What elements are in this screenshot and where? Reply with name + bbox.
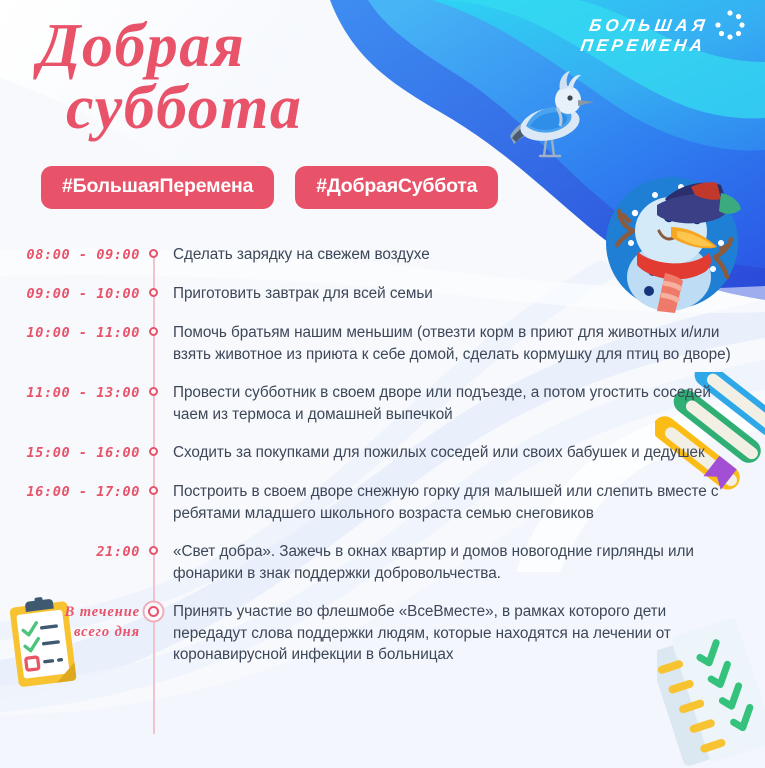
brand-dots-icon [713,8,747,42]
schedule-time: 15:00 - 16:00 [0,442,140,464]
timeline-bullet-wrap [140,541,166,555]
schedule-row[interactable]: 09:00 - 10:00 Приготовить завтрак для вс… [0,283,765,305]
timeline-dot-icon [149,486,158,495]
schedule-time: 09:00 - 10:00 [0,283,140,305]
schedule-task: Помочь братьям нашим меньшим (отвезти ко… [166,322,733,365]
schedule-row[interactable]: 21:00 «Свет добра». Зажечь в окнах кварт… [0,541,765,584]
timeline-bullet-wrap [140,382,166,396]
schedule-time: 21:00 [0,541,140,563]
poster-canvas: Добрая суббота БОЛЬШАЯ ПЕРЕМЕНА #Большая… [0,0,765,768]
schedule-task: Сходить за покупками для пожилых соседей… [166,442,733,464]
bird-illustration [500,68,600,173]
hashtag-bolshaya-peremena[interactable]: #БольшаяПеремена [41,166,274,209]
timeline-dot-icon [149,447,158,456]
schedule-time: 16:00 - 17:00 [0,481,140,503]
schedule-row[interactable]: 15:00 - 16:00 Сходить за покупками для п… [0,442,765,464]
timeline-bullet-wrap [140,601,166,617]
timeline-bullet-wrap [140,481,166,495]
brand-logo: БОЛЬШАЯ ПЕРЕМЕНА [579,16,710,56]
timeline-dot-icon [149,249,158,258]
schedule-time: 08:00 - 09:00 [0,244,140,266]
timeline-dot-icon [149,387,158,396]
schedule-row[interactable]: В течение всего дня Принять участие во ф… [0,601,765,666]
poster-title: Добрая суббота [34,8,434,148]
timeline-bullet-wrap [140,442,166,456]
schedule-time: 10:00 - 11:00 [0,322,140,344]
schedule-task: Сделать зарядку на свежем воздухе [166,244,733,266]
timeline-dot-icon [149,288,158,297]
schedule-row[interactable]: 10:00 - 11:00 Помочь братьям нашим меньш… [0,322,765,365]
schedule-task: «Свет добра». Зажечь в окнах квартир и д… [166,541,733,584]
schedule-task: Приготовить завтрак для всей семьи [166,283,733,305]
timeline-bullet-wrap [140,322,166,336]
hashtag-dobraya-subbota[interactable]: #ДобраяСуббота [295,166,498,209]
timeline-dot-icon [149,327,158,336]
schedule-task: Принять участие во флешмобе «ВсеВместе»,… [166,601,733,666]
schedule-row[interactable]: 16:00 - 17:00 Построить в своем дворе сн… [0,481,765,524]
schedule-time: В течение всего дня [0,601,140,642]
schedule-row[interactable]: 11:00 - 13:00 Провести субботник в своем… [0,382,765,425]
timeline-dot-icon [148,606,159,617]
schedule-time: 11:00 - 13:00 [0,382,140,404]
schedule-task: Построить в своем дворе снежную горку дл… [166,481,733,524]
schedule-task: Провести субботник в своем дворе или под… [166,382,733,425]
title-line-1: Добрая [33,12,245,80]
timeline-bullet-wrap [140,244,166,258]
timeline-dot-icon [149,546,158,555]
timeline-bullet-wrap [140,283,166,297]
brand-line-1: БОЛЬШАЯ [582,16,710,36]
brand-line-2: ПЕРЕМЕНА [579,36,707,56]
schedule-list: 08:00 - 09:00 Сделать зарядку на свежем … [0,244,765,683]
title-line-2: суббота [66,74,302,142]
hashtag-row: #БольшаяПеремена #ДобраяСуббота [41,166,498,209]
schedule-row[interactable]: 08:00 - 09:00 Сделать зарядку на свежем … [0,244,765,266]
